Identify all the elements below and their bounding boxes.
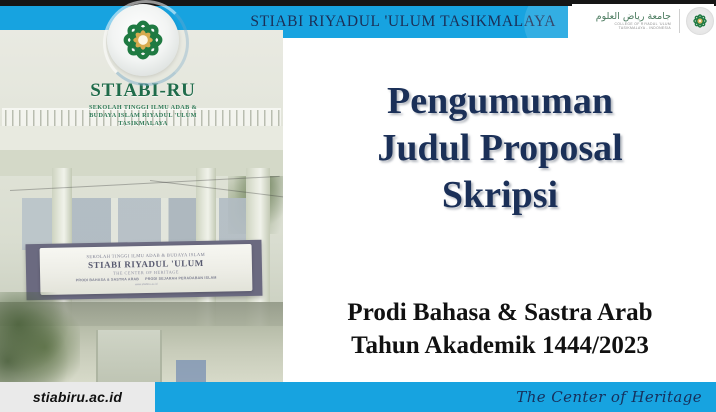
page-title: Pengumuman Judul Proposal Skripsi xyxy=(288,78,712,219)
page-title-line2: Judul Proposal xyxy=(288,125,712,172)
university-arabic-name: جامعة رياض العلوم xyxy=(596,12,671,22)
university-english-line2: TASIKMALAYA - INDONESIA xyxy=(614,27,671,30)
stiabi-ru-brand: STIABI-RU SEKOLAH TINGGI ILMU ADAB & BUD… xyxy=(60,4,226,129)
logo-divider xyxy=(679,9,680,33)
page-title-line1: Pengumuman xyxy=(288,78,712,125)
page-title-line3: Skripsi xyxy=(288,172,712,219)
page-subtitle-line1: Prodi Bahasa & Sastra Arab xyxy=(288,296,712,329)
photo-blue-object xyxy=(176,360,206,382)
university-english-name: COLLEGE OF RIYADUL 'ULUM TASIKMALAYA - I… xyxy=(614,23,671,30)
university-logo-text: جامعة رياض العلوم COLLEGE OF RIYADUL 'UL… xyxy=(572,12,673,30)
photo-banner-url: www.stiabiru.ac.id xyxy=(135,282,157,286)
photo-banner-prodi-left: PRODI BAHASA & SASTRA ARAB xyxy=(76,277,139,282)
footer-tagline: The Center of Heritage xyxy=(516,388,702,406)
rosette-emblem-svg xyxy=(690,11,710,31)
page-subtitle-line2: Tahun Akademik 1444/2023 xyxy=(288,329,712,362)
footer-url: stiabiru.ac.id xyxy=(33,389,122,405)
photo-banner-prodi: PRODI BAHASA & SASTRA ARAB PRODI SEJARAH… xyxy=(76,275,217,282)
brand-subtitle-line2: BUDAYA ISLAM RIYADUL 'ULUM xyxy=(60,112,226,120)
brand-subtitle: SEKOLAH TINGGI ILMU ADAB & BUDAYA ISLAM … xyxy=(60,104,226,129)
footer-url-panel: stiabiru.ac.id xyxy=(0,382,155,412)
photo-floor-slab-upper xyxy=(0,126,283,150)
brand-emblem-badge xyxy=(107,4,179,76)
photo-palm-foliage xyxy=(0,292,80,382)
footer-bar: stiabiru.ac.id The Center of Heritage xyxy=(0,382,716,412)
rosette-emblem-icon xyxy=(116,13,170,67)
university-logo: جامعة رياض العلوم COLLEGE OF RIYADUL 'UL… xyxy=(572,4,714,38)
brand-subtitle-line1: SEKOLAH TINGGI ILMU ADAB & xyxy=(60,104,226,112)
photo-entrance-door xyxy=(96,330,162,382)
photo-banner-line3: THE CENTER OF HERITAGE xyxy=(113,269,179,275)
page-subtitle: Prodi Bahasa & Sastra Arab Tahun Akademi… xyxy=(288,296,712,362)
presentation-slide: STIABI RIYADUL 'ULUM TASIKMALAYA جامعة ر… xyxy=(0,0,716,412)
photo-banner-line2: STIABI RIYADUL 'ULUM xyxy=(88,258,204,270)
rosette-emblem-icon xyxy=(686,7,714,35)
brand-subtitle-line3: TASIKMALAYA xyxy=(60,120,226,128)
photo-banner: SEKOLAH TINGGI ILMU ADAB & BUDAYA ISLAM … xyxy=(40,244,253,295)
photo-floor-slab-lower xyxy=(0,150,283,176)
header-title: STIABI RIYADUL 'ULUM TASIKMALAYA xyxy=(250,13,556,31)
photo-banner-prodi-right: PRODI SEJARAH PERADABAN ISLAM xyxy=(145,275,217,280)
